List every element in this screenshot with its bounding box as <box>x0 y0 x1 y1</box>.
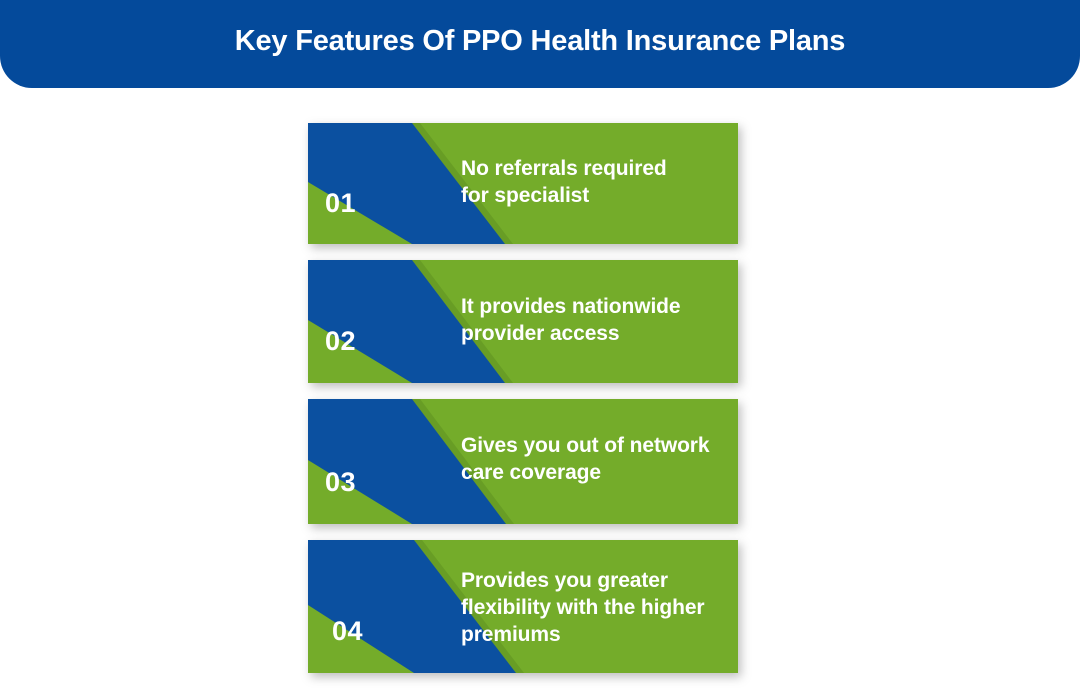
card-text-line: flexibility with the higher <box>461 594 728 621</box>
card-text-02: It provides nationwide provider access <box>461 293 728 347</box>
page-title: Key Features Of PPO Health Insurance Pla… <box>235 26 845 62</box>
card-text-01: No referrals required for specialist <box>461 155 728 209</box>
feature-card-02[interactable]: 02 It provides nationwide provider acces… <box>308 260 738 383</box>
feature-card-03[interactable]: 03 Gives you out of network care coverag… <box>308 399 738 524</box>
card-text-04: Provides you greater flexibility with th… <box>461 567 728 648</box>
card-text-line: for specialist <box>461 182 728 209</box>
card-text-line: Gives you out of network <box>461 432 728 459</box>
card-text-line: premiums <box>461 621 728 648</box>
header-banner: Key Features Of PPO Health Insurance Pla… <box>0 0 1080 88</box>
card-number-01: 01 <box>325 190 356 217</box>
card-text-line: It provides nationwide <box>461 293 728 320</box>
card-text-line: provider access <box>461 320 728 347</box>
card-number-03: 03 <box>325 469 356 496</box>
feature-card-list: 01 No referrals required for specialist … <box>308 123 738 673</box>
card-text-03: Gives you out of network care coverage <box>461 432 728 486</box>
card-text-line: Provides you greater <box>461 567 728 594</box>
card-number-02: 02 <box>325 328 356 355</box>
feature-card-04[interactable]: 04 Provides you greater flexibility with… <box>308 540 738 673</box>
card-text-line: care coverage <box>461 459 728 486</box>
card-number-04: 04 <box>332 618 363 645</box>
feature-card-01[interactable]: 01 No referrals required for specialist <box>308 123 738 244</box>
card-text-line: No referrals required <box>461 155 728 182</box>
